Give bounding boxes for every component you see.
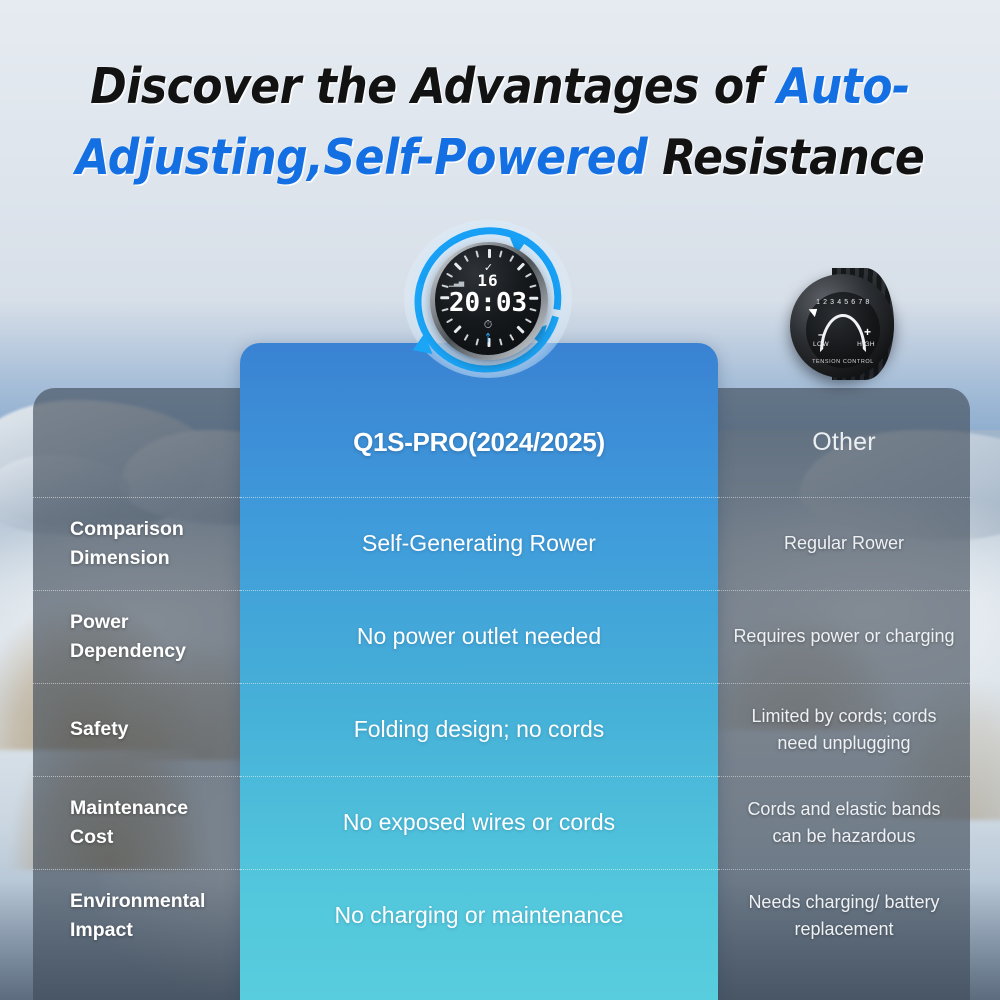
headline-line-2: Adjusting,Self-Powered Resistance — [0, 133, 1000, 182]
knob-low-label: LOW — [813, 341, 829, 348]
headline-text-blue: Adjusting,Self-Powered — [76, 129, 648, 186]
row-label: Safety — [70, 715, 129, 743]
row-label: Power Dependency — [70, 608, 226, 665]
table-header-product-cell: Q1S-PRO(2024/2025) — [240, 388, 718, 497]
table-row: Needs charging/ battery replacement — [718, 869, 970, 962]
row-label: Environmental Impact — [70, 887, 226, 944]
table-row: Power Dependency — [33, 590, 240, 683]
comparison-table: Q1S-PRO(2024/2025) Other Comparison Dime… — [33, 388, 970, 1000]
product-column-title: Q1S-PRO(2024/2025) — [353, 427, 605, 458]
bluetooth-icon: ᛏ — [435, 333, 541, 344]
row-other-value: Regular Rower — [784, 530, 904, 556]
table-row: No exposed wires or cords — [240, 776, 718, 869]
elapsed-time-value: 20:03 — [435, 288, 541, 318]
row-label: Comparison Dimension — [70, 515, 226, 572]
row-other-value: Limited by cords; cords need unplugging — [732, 703, 956, 755]
table-row: Cords and elastic bands can be hazardous — [718, 776, 970, 869]
table-row: Maintenance Cost — [33, 776, 240, 869]
table-header-label-cell — [33, 388, 240, 497]
other-column-title: Other — [812, 428, 876, 457]
table-row: Safety — [33, 683, 240, 776]
tension-control-knob: 1 2 3 4 5 6 7 8 – + LOW HIGH TENSION CON… — [786, 266, 898, 386]
knob-high-label: HIGH — [857, 341, 875, 348]
headline-text-black: Discover the Advantages of — [90, 58, 777, 115]
table-row: Folding design; no cords — [240, 683, 718, 776]
knob-body: 1 2 3 4 5 6 7 8 – + LOW HIGH TENSION CON… — [790, 274, 894, 378]
table-row: Self-Generating Rower — [240, 497, 718, 590]
headline-text-black: Resistance — [647, 129, 924, 186]
monitor-screen: ✓ ▁▃▅ 16 20:03 ⏱ ᛏ — [435, 245, 541, 355]
knob-scale-numbers: 1 2 3 4 5 6 7 8 — [806, 299, 880, 306]
headline-text-blue: Auto- — [777, 58, 910, 115]
row-other-value: Cords and elastic bands can be hazardous — [732, 796, 956, 848]
row-other-value: Requires power or charging — [733, 623, 954, 649]
minus-icon: – — [818, 329, 824, 341]
row-product-value: No charging or maintenance — [335, 899, 624, 931]
pointer-icon — [809, 305, 821, 317]
table-row: Limited by cords; cords need unplugging — [718, 683, 970, 776]
table-row: Regular Rower — [718, 497, 970, 590]
rowing-monitor-display: ✓ ▁▃▅ 16 20:03 ⏱ ᛏ — [398, 214, 578, 384]
plus-icon: + — [864, 325, 871, 339]
clock-icon: ⏱ — [435, 319, 541, 332]
row-product-value: No power outlet needed — [357, 620, 601, 652]
row-product-value: Self-Generating Rower — [362, 527, 596, 559]
row-label: Maintenance Cost — [70, 794, 226, 851]
row-product-value: No exposed wires or cords — [343, 806, 615, 838]
table-row: No power outlet needed — [240, 590, 718, 683]
knob-dial-face: 1 2 3 4 5 6 7 8 – + LOW HIGH TENSION CON… — [806, 292, 880, 368]
knob-caption: TENSION CONTROL — [806, 359, 880, 365]
row-product-value: Folding design; no cords — [354, 713, 605, 745]
table-row: Comparison Dimension — [33, 497, 240, 590]
page-title: Discover the Advantages of Auto- Adjusti… — [0, 62, 1000, 182]
table-row: No charging or maintenance — [240, 869, 718, 962]
row-other-value: Needs charging/ battery replacement — [732, 889, 956, 941]
table-row: Environmental Impact — [33, 869, 240, 962]
headline-line-1: Discover the Advantages of Auto- — [0, 62, 1000, 111]
table-header-other-cell: Other — [718, 388, 970, 497]
table-row: Requires power or charging — [718, 590, 970, 683]
